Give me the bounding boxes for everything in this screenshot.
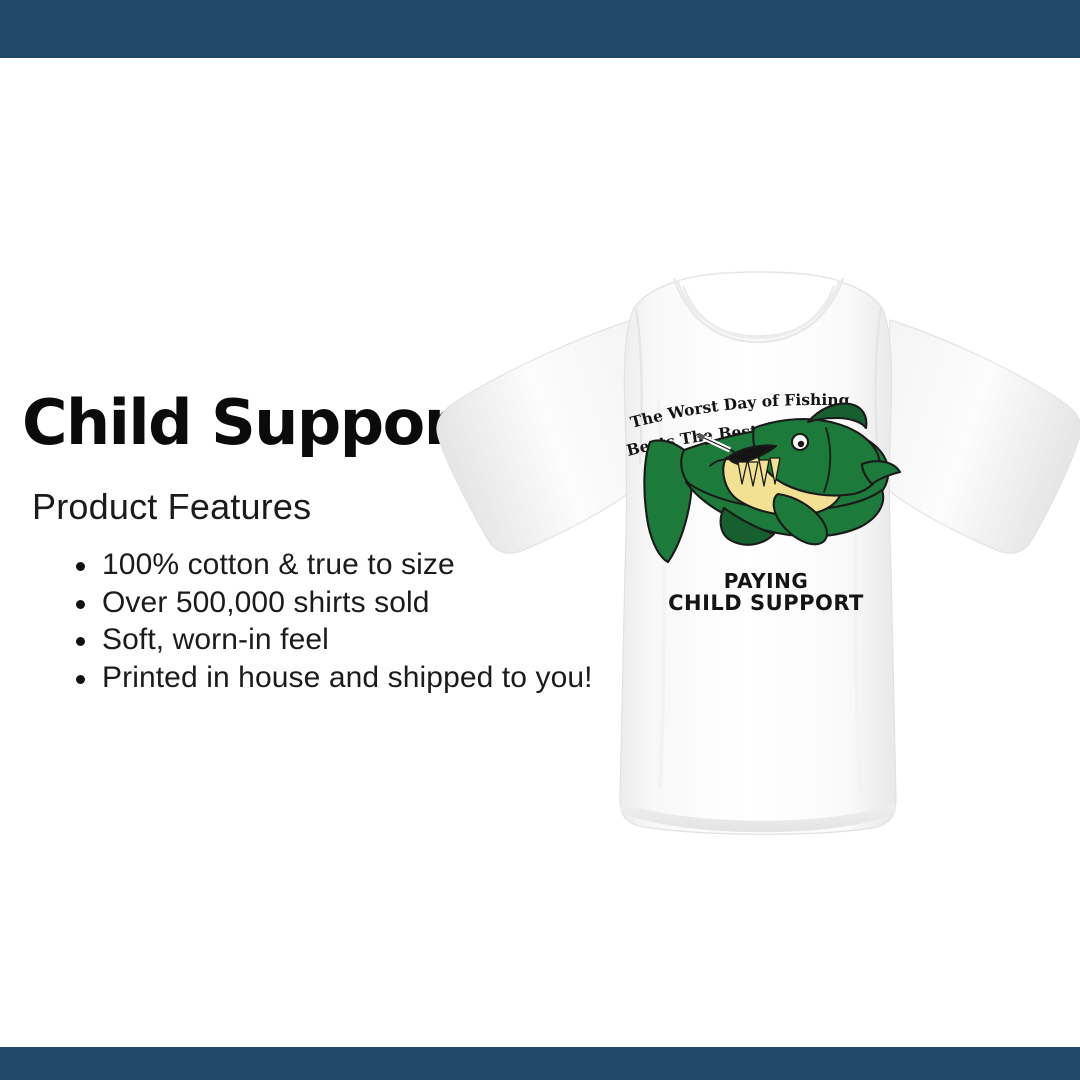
bottom-accent-band — [0, 1047, 1080, 1080]
slide-canvas: Child Support Product Features 100% cott… — [0, 0, 1080, 1080]
shirt-print-design: The Worst Day of Fishing Beats The Best … — [626, 398, 906, 628]
tshirt-right-sleeve — [881, 320, 1080, 553]
top-accent-band — [0, 0, 1080, 58]
print-bottom-line-2: CHILD SUPPORT — [626, 592, 906, 614]
fish-pupil — [798, 441, 804, 447]
print-bottom-text: PAYING CHILD SUPPORT — [626, 570, 906, 614]
catfish-icon — [626, 398, 906, 578]
cigarette-tip — [698, 435, 704, 438]
tshirt-left-sleeve — [437, 320, 641, 553]
print-bottom-line-1: PAYING — [626, 570, 906, 592]
